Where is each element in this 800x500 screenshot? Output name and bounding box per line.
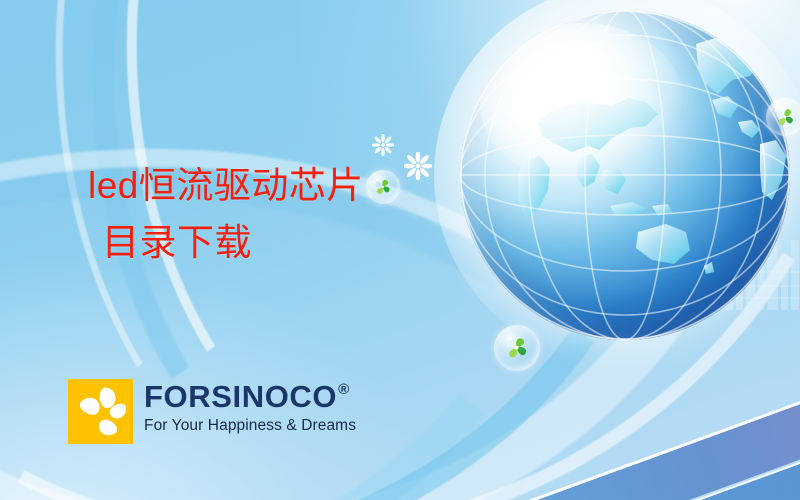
eco-bubble [766,98,800,136]
headline-line-1: led恒流驱动芯片 [88,162,508,209]
registered-trademark-symbol: ® [338,382,350,397]
headline-line-2: 目录下载 [88,219,508,266]
brand-logo: FORSINOCO ® For Your Happiness & Dreams [68,379,356,444]
logo-mark [68,379,133,444]
banner-canvas: led恒流驱动芯片 目录下载 FORSINOCO ® For Your Happ… [0,0,800,500]
starburst-flower-icon [372,134,394,156]
pinwheel-flower-icon [73,384,129,440]
wordmark: FORSINOCO ® [144,381,356,412]
wordmark-text: FORSINOCO [144,381,337,412]
logo-text: FORSINOCO ® For Your Happiness & Dreams [144,379,356,435]
green-pinwheel-icon [501,333,532,362]
eco-bubble [494,325,540,371]
green-pinwheel-icon [772,105,798,129]
page-title: led恒流驱动芯片 目录下载 [88,162,508,267]
brand-tagline: For Your Happiness & Dreams [144,417,356,435]
